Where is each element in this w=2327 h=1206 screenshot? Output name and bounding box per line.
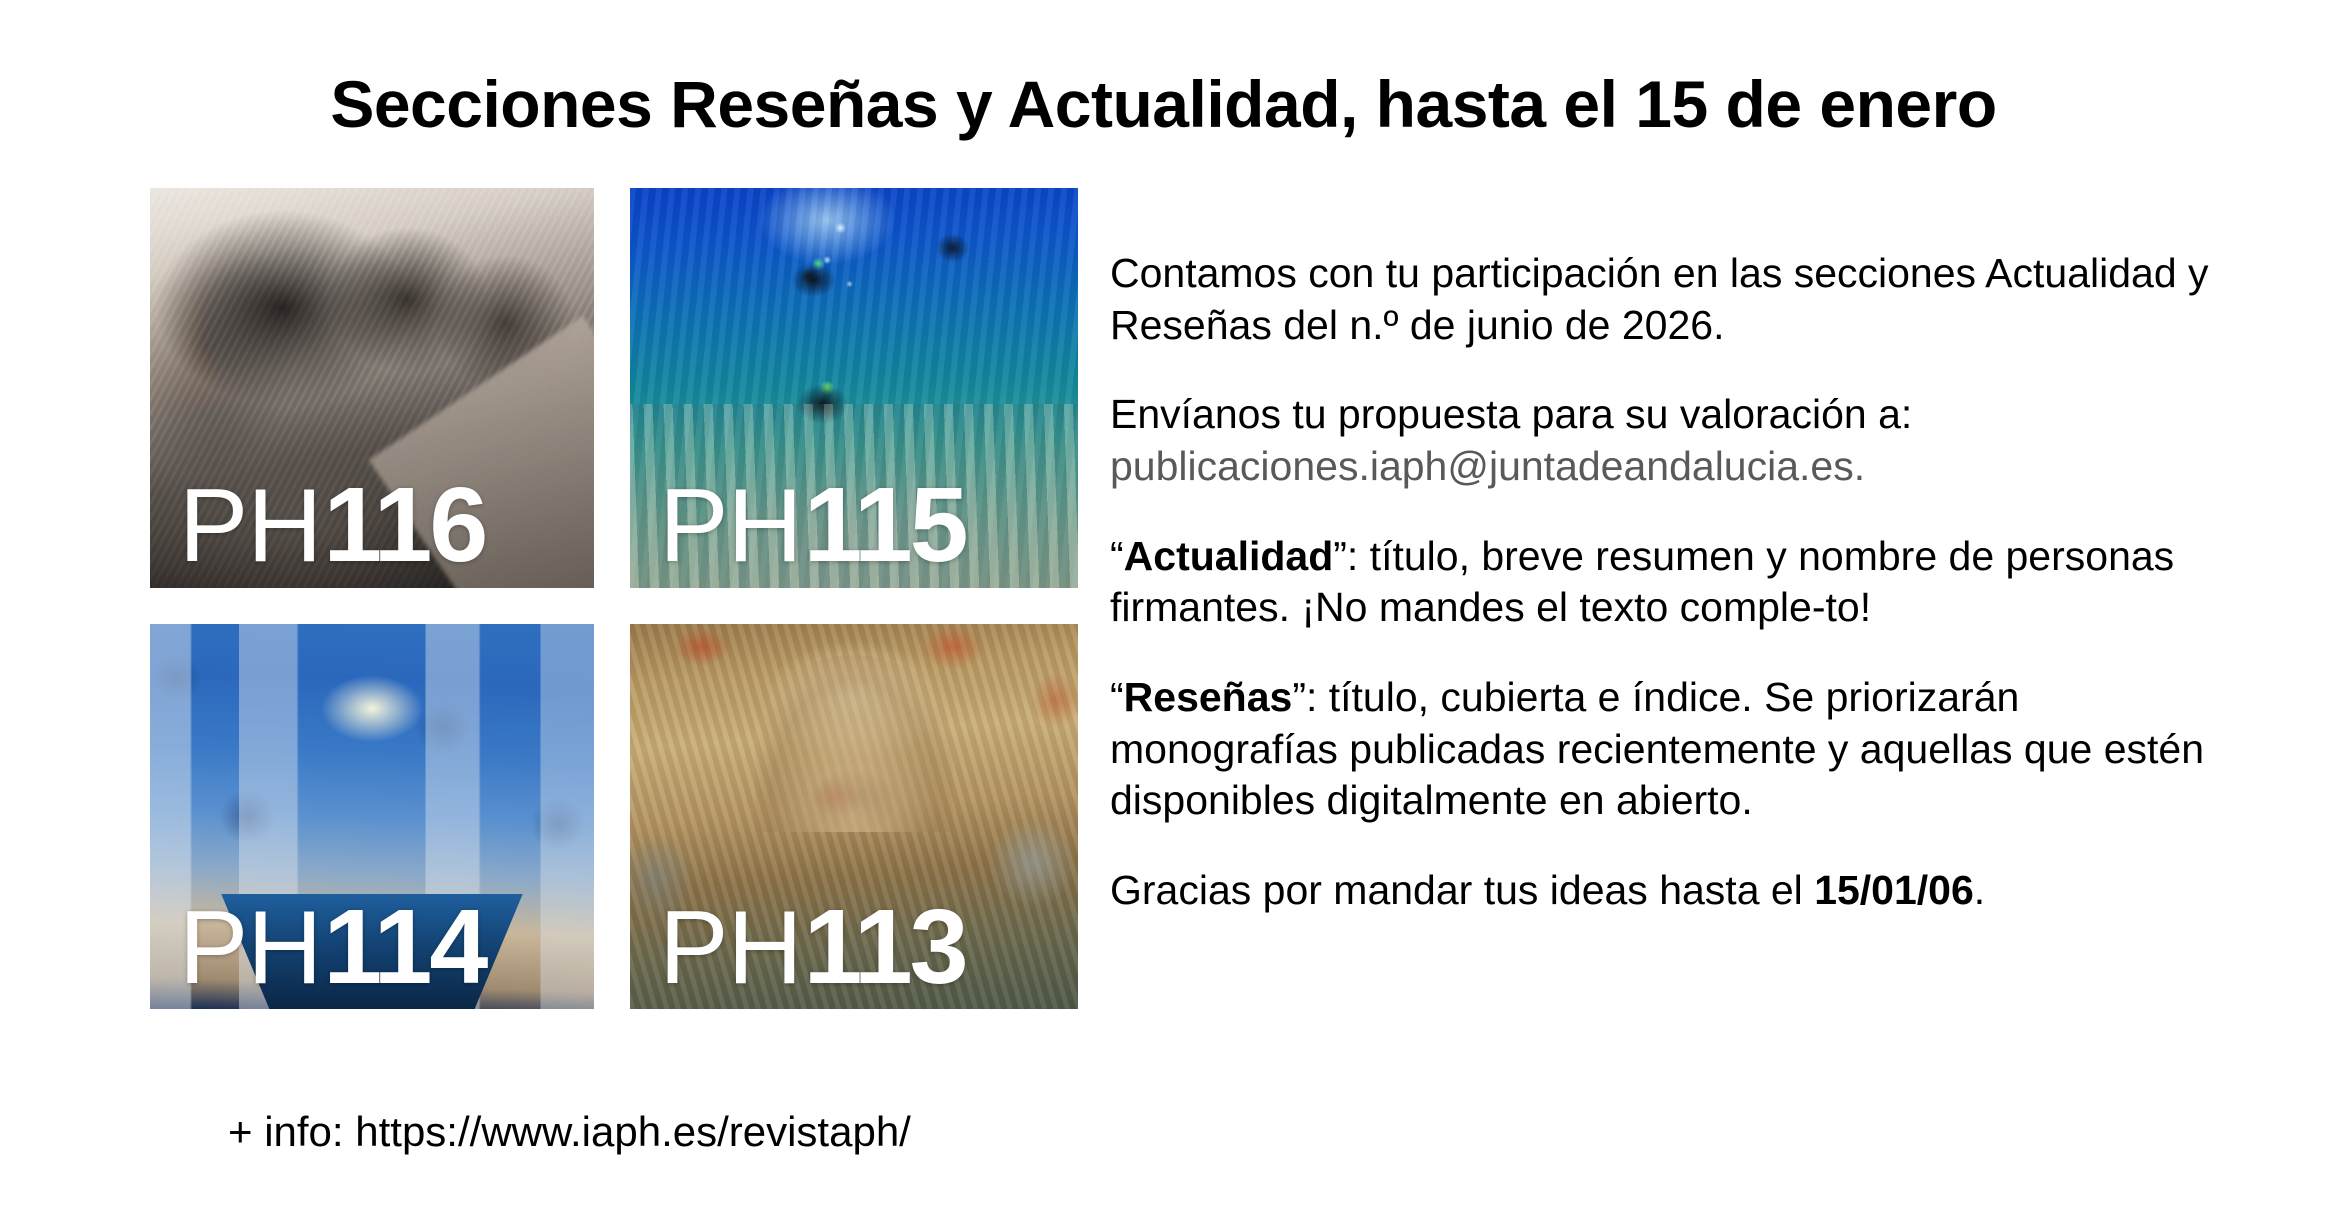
cover-thumbnail-ph113[interactable]: PH 113 [630, 624, 1078, 1009]
cover-number-text: 114 [323, 897, 485, 998]
paragraph-participation-text: Contamos con tu participación en las sec… [1110, 250, 2209, 348]
paragraph-actualidad: “Actualidad”: título, breve resumen y no… [1110, 531, 2230, 634]
cover-label-ph113: PH 113 [659, 897, 966, 998]
cover-number-text: 115 [804, 475, 966, 576]
section-term-actualidad: Actualidad [1124, 533, 1334, 579]
page-title: Secciones Reseñas y Actualidad, hasta el… [0, 66, 2327, 142]
cover-prefix-text: PH [179, 899, 321, 998]
cover-thumbnail-ph116[interactable]: PH 116 [150, 188, 594, 588]
submission-lead-text: Envíanos tu propuesta para su valoración… [1110, 391, 1912, 437]
open-quote-glyph: “ [1110, 674, 1124, 720]
cover-thumbnail-ph114[interactable]: PH 114 [150, 624, 594, 1009]
section-term-resenas: Reseñas [1124, 674, 1293, 720]
description-text-column: Contamos con tu participación en las sec… [1110, 248, 2230, 917]
cover-label-ph116: PH 116 [179, 475, 486, 576]
paragraph-deadline: Gracias por mandar tus ideas hasta el 15… [1110, 865, 2230, 917]
deadline-lead-text: Gracias por mandar tus ideas hasta el [1110, 867, 1814, 913]
cover-thumbnail-ph115[interactable]: PH 115 [630, 188, 1078, 588]
cover-prefix-text: PH [179, 477, 321, 576]
cover-prefix-text: PH [659, 477, 801, 576]
deadline-date: 15/01/06 [1814, 867, 1974, 913]
cover-number-text: 116 [323, 475, 485, 576]
cover-label-ph115: PH 115 [659, 475, 966, 576]
more-info-url[interactable]: + info: https://www.iaph.es/revistaph/ [228, 1108, 911, 1156]
open-quote-glyph: “ [1110, 533, 1124, 579]
deadline-period: . [1974, 867, 1985, 913]
paragraph-resenas: “Reseñas”: título, cubierta e índice. Se… [1110, 672, 2230, 827]
cover-number-text: 113 [804, 897, 966, 998]
paragraph-participation: Contamos con tu participación en las sec… [1110, 248, 2230, 351]
cover-prefix-text: PH [659, 899, 801, 998]
contact-email-address[interactable]: publicaciones.iaph@juntadeandalucia.es. [1110, 443, 1865, 489]
cover-label-ph114: PH 114 [179, 897, 486, 998]
magazine-cover-grid: PH 116 PH 115 PH 114 PH 113 [150, 188, 1080, 1009]
paragraph-submission: Envíanos tu propuesta para su valoración… [1110, 389, 2230, 492]
